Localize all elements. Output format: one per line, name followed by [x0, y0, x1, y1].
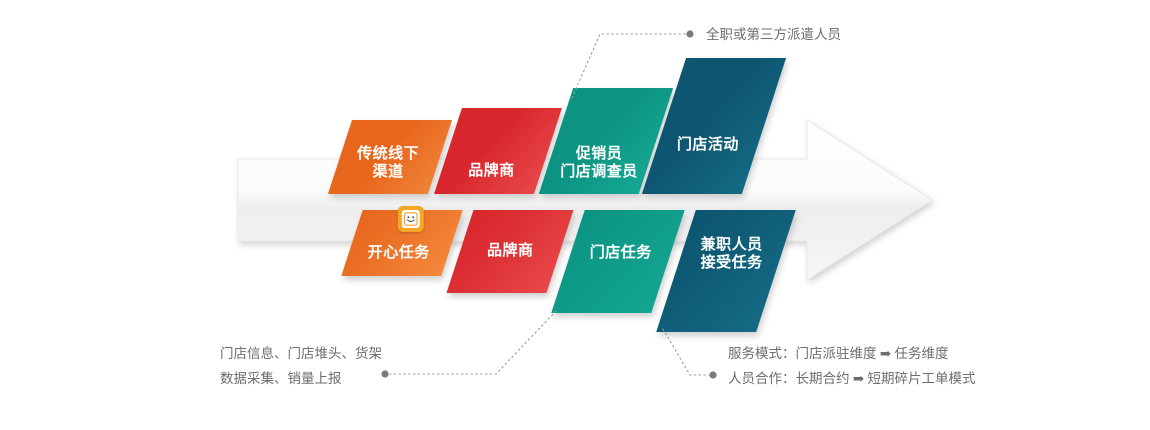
- connector-collected-data: [381, 311, 556, 378]
- annotation-service-model: 服务模式：门店派驻维度 ➡ 任务维度 人员合作：长期合约 ➡ 短期碎片工单模式: [728, 342, 976, 392]
- tile-label: 门店活动: [658, 136, 758, 154]
- tile-label: 传统线下 渠道: [338, 145, 438, 180]
- annotation-line: 门店信息、门店堆头、货架: [220, 342, 382, 367]
- annotation-line: 全职或第三方派遣人员: [706, 23, 841, 48]
- tile-label: 兼职人员 接受任务: [682, 236, 782, 271]
- tile-label: 门店任务: [571, 244, 671, 262]
- annotation-collected-data: 门店信息、门店堆头、货架 数据采集、销量上报: [220, 342, 382, 392]
- annotation-staffing-type: 全职或第三方派遣人员: [706, 23, 841, 48]
- annotation-line: 数据采集、销量上报: [220, 367, 382, 392]
- connector-service-model: [663, 329, 717, 379]
- tile-label: 品牌商: [441, 162, 541, 180]
- tile-label: 品牌商: [460, 242, 560, 260]
- smiley-icon: [398, 206, 424, 232]
- tile-label: 促销员 门店调查员: [549, 145, 649, 180]
- annotation-line: 服务模式：门店派驻维度 ➡ 任务维度: [728, 342, 976, 367]
- tile-label: 开心任务: [349, 244, 449, 262]
- diagram-canvas: 传统线下 渠道 品牌商 促销员 门店调查员 门店活动 开心任务 品牌商: [0, 0, 1150, 430]
- annotation-line: 人员合作：长期合约 ➡ 短期碎片工单模式: [728, 367, 976, 392]
